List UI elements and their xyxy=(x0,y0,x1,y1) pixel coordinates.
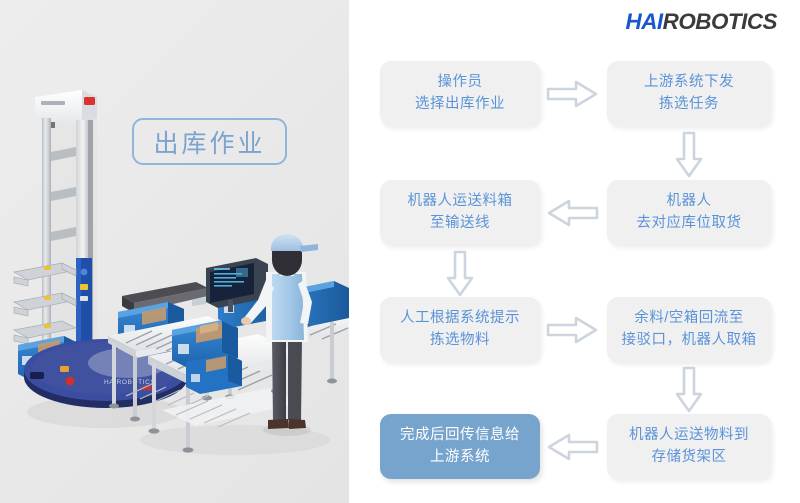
flow-node-line: 存储货架区 xyxy=(652,447,727,469)
flow-node-line: 拣选任务 xyxy=(659,94,719,116)
flow-node-line: 拣选物料 xyxy=(430,330,490,352)
flow-node-line: 选择出库作业 xyxy=(415,94,505,116)
flow-node-line: 余料/空箱回流至 xyxy=(634,308,744,330)
warehouse-scene-illustration: HAIROBOTICS xyxy=(0,0,349,503)
flow-node-line: 机器人运送物料到 xyxy=(629,425,749,447)
outbound-process-flowchart: 操作员 选择出库作业 上游系统下发 拣选任务 机器人 去对应库位取货 xyxy=(349,0,800,503)
flow-arrow-down-2 xyxy=(445,250,475,297)
svg-text:HAIROBOTICS: HAIROBOTICS xyxy=(104,379,155,386)
flow-arrow-left-2 xyxy=(546,432,599,462)
page-title: 出库作业 xyxy=(132,118,287,165)
flow-node-line: 上游系统下发 xyxy=(644,72,734,94)
slide-root: HAIROBOTICS xyxy=(0,0,800,503)
flow-arrow-right-2 xyxy=(546,315,599,345)
flow-node-line: 接驳口，机器人取箱 xyxy=(622,330,757,352)
flow-node-robot-to-storage[interactable]: 机器人运送物料到 存储货架区 xyxy=(607,414,771,479)
flow-node-line: 操作员 xyxy=(438,72,483,94)
left-illustration-panel: HAIROBOTICS xyxy=(0,0,349,503)
flow-node-line: 机器人 xyxy=(667,191,712,213)
flow-node-manual-picking[interactable]: 人工根据系统提示 拣选物料 xyxy=(380,297,540,362)
flow-arrow-down-3 xyxy=(674,366,704,413)
flow-arrow-right-1 xyxy=(546,79,599,109)
flow-node-line: 去对应库位取货 xyxy=(637,213,742,235)
flow-node-upstream-dispatch[interactable]: 上游系统下发 拣选任务 xyxy=(607,61,771,126)
flow-node-robot-pick-location[interactable]: 机器人 去对应库位取货 xyxy=(607,180,771,245)
flow-node-line: 完成后回传信息给 xyxy=(400,425,520,447)
flow-arrow-left-1 xyxy=(546,198,599,228)
flow-node-line: 至输送线 xyxy=(430,213,490,235)
flow-arrow-down-1 xyxy=(674,131,704,178)
flow-node-return-empty-totes[interactable]: 余料/空箱回流至 接驳口，机器人取箱 xyxy=(607,297,771,362)
flow-node-robot-to-conveyor[interactable]: 机器人运送料箱 至输送线 xyxy=(380,180,540,245)
flow-node-report-completion[interactable]: 完成后回传信息给 上游系统 xyxy=(380,414,540,479)
flow-node-line: 上游系统 xyxy=(430,447,490,469)
flow-node-operator-select[interactable]: 操作员 选择出库作业 xyxy=(380,61,540,126)
flow-node-line: 机器人运送料箱 xyxy=(408,191,513,213)
flow-node-line: 人工根据系统提示 xyxy=(400,308,520,330)
